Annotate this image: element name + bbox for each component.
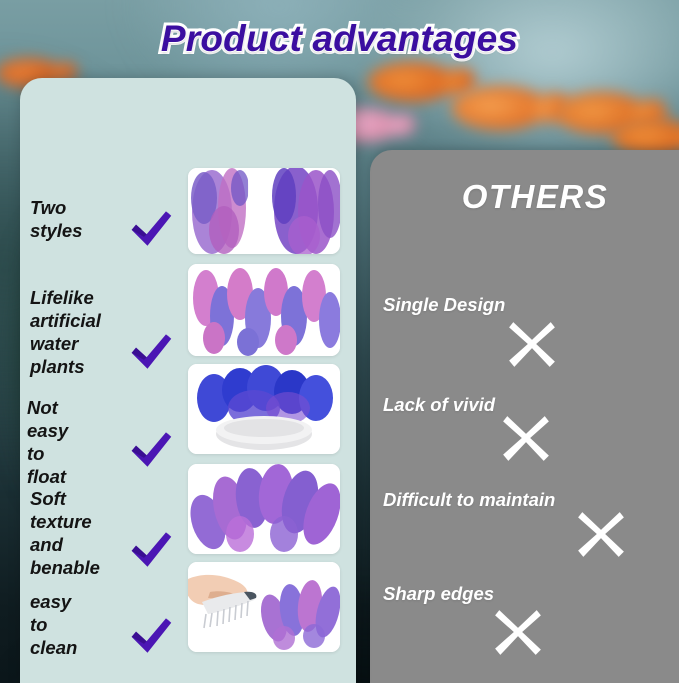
ours-feature-label: Lifelike artificial water plants: [30, 286, 101, 378]
ours-feature-label: Two styles: [30, 196, 82, 242]
cross-icon: [575, 508, 627, 560]
cross-icon: [492, 606, 544, 658]
others-feature-label: Sharp edges: [383, 582, 494, 605]
check-icon: [128, 428, 174, 472]
others-column-card: OTHERS Single Design Lack of vivid Diffi…: [370, 150, 679, 683]
others-column-heading: OTHERS: [370, 178, 679, 216]
product-photo: [188, 168, 340, 254]
others-feature-label: Lack of vivid: [383, 393, 495, 416]
goldfish-icon: [368, 62, 456, 102]
cross-icon: [506, 318, 558, 370]
lifelike-plants-closeup-image: [188, 264, 340, 356]
product-photo: [188, 562, 340, 652]
product-photo: [188, 264, 340, 356]
product-photo: [188, 464, 340, 554]
others-feature-label: Difficult to maintain: [383, 488, 555, 511]
product-photo: [188, 364, 340, 454]
weighted-base-plant-image: [188, 364, 340, 454]
check-icon: [128, 528, 174, 572]
goldfish-icon: [452, 86, 548, 130]
ours-feature-label: Soft texture and benable: [30, 487, 100, 579]
cross-icon: [500, 412, 552, 464]
check-icon: [128, 330, 174, 374]
check-icon: [128, 207, 174, 251]
two-styles-plants-image: [188, 168, 340, 254]
page-title: Product advantages: [0, 18, 679, 60]
ours-feature-label: Not easy to float: [27, 396, 68, 488]
check-icon: [128, 614, 174, 658]
ours-feature-label: easy to clean: [30, 590, 77, 659]
others-feature-label: Single Design: [383, 293, 505, 316]
infographic-canvas: Product advantages OTHERS Single Design …: [0, 0, 679, 683]
brush-cleaning-image: [188, 562, 340, 652]
soft-foliage-image: [188, 464, 340, 554]
